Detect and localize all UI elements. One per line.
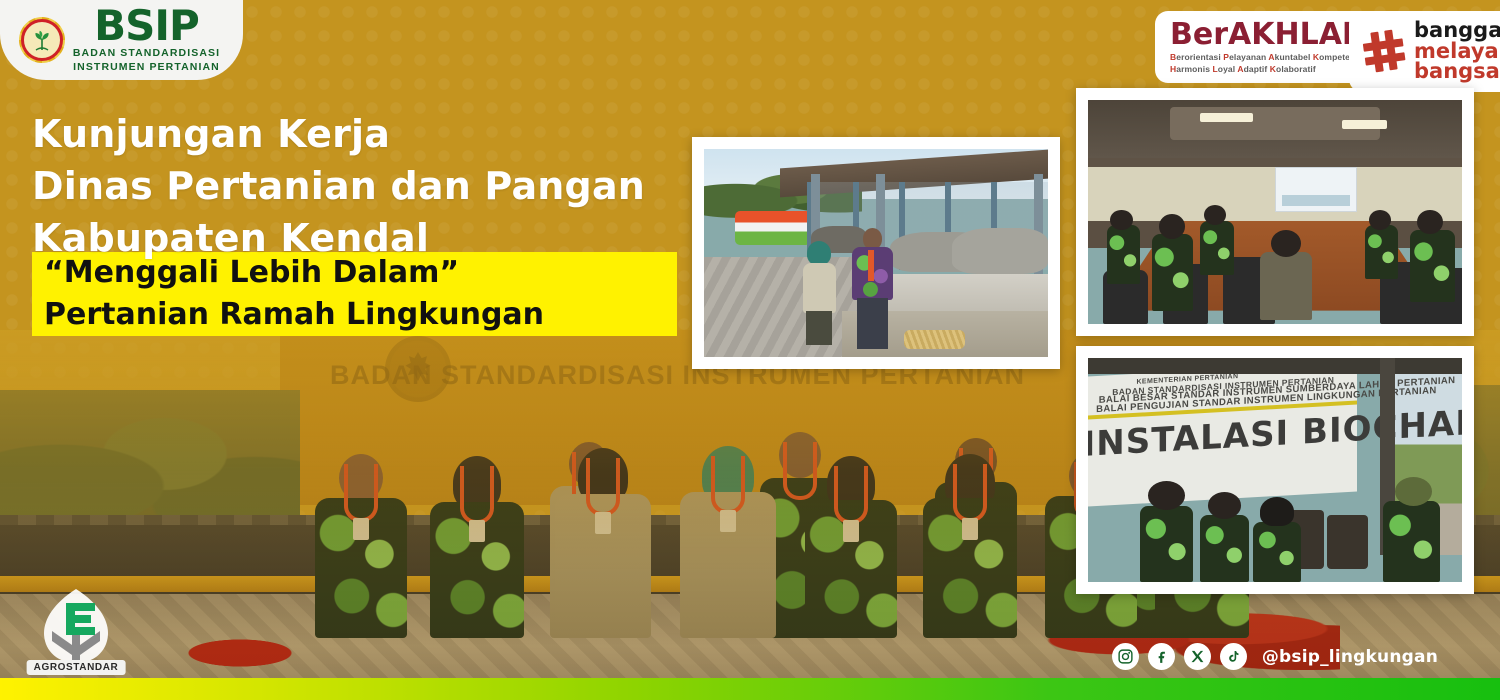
bangga-line-3: bangsa <box>1414 61 1500 82</box>
berakhlak-ber-text: Ber <box>1170 17 1228 52</box>
photo-cattle-barn <box>704 149 1048 357</box>
highlight-line-2: Pertanian Ramah Lingkungan <box>44 300 544 330</box>
bsip-subtitle-line-2: INSTRUMEN PERTANIAN <box>73 61 220 73</box>
x-twitter-icon[interactable] <box>1184 643 1211 670</box>
facebook-icon[interactable] <box>1148 643 1175 670</box>
person-officer-male <box>852 228 893 349</box>
photo-frame-meeting-room <box>1076 88 1474 336</box>
bangga-line-2: melayani <box>1414 41 1500 62</box>
social-media-row: @bsip_lingkungan <box>1112 643 1438 670</box>
berakhlak-tagline-line-1: Berorientasi Pelayanan Akuntabel Kompete… <box>1170 52 1365 62</box>
berakhlak-logo: BerAKHLAK Berorientasi Pelayanan Akuntab… <box>1158 14 1379 80</box>
tiktok-icon[interactable] <box>1220 643 1247 670</box>
poster-title-block: Kunjungan Kerja Dinas Pertanian dan Pang… <box>32 108 645 264</box>
title-line-2: Dinas Pertanian dan Pangan <box>32 160 645 212</box>
projector-screen <box>1275 167 1357 212</box>
title-line-1: Kunjungan Kerja <box>32 108 645 160</box>
berakhlak-wordmark: BerAKHLAK <box>1170 20 1365 50</box>
photo-frame-instalasi-biochar: KEMENTERIAN PERTANIAN BADAN STANDARDISAS… <box>1076 346 1474 594</box>
shuttle-bus <box>735 211 811 244</box>
agrostandar-label: AGROSTANDAR <box>27 660 126 675</box>
poster-canvas: BADAN STANDARDISASI INSTRUMEN PERTANIAN <box>0 0 1500 700</box>
photo-instalasi-biochar: KEMENTERIAN PERTANIAN BADAN STANDARDISAS… <box>1088 358 1462 582</box>
biochar-banner: KEMENTERIAN PERTANIAN BADAN STANDARDISAS… <box>1088 362 1357 507</box>
bangga-line-1: bangga <box>1414 20 1500 41</box>
agrostandar-logo: AGROSTANDAR <box>26 585 126 677</box>
berakhlak-tagline-line-2: Harmonis Loyal Adaptif Kolaboratif <box>1170 64 1365 74</box>
bsip-wordmark: BSIP <box>73 7 220 45</box>
hashtag-icon <box>1362 29 1406 73</box>
photo-meeting-room <box>1088 100 1462 324</box>
highlight-line-1: “Menggali Lebih Dalam” <box>44 258 459 288</box>
bangga-melayani-bangsa-logo: bangga melayani bangsa <box>1352 14 1500 89</box>
bsip-subtitle-line-1: BADAN STANDARDISASI <box>73 47 220 59</box>
photo-frame-cattle-barn <box>692 137 1060 369</box>
social-handle: @bsip_lingkungan <box>1262 647 1438 667</box>
berakhlak-akhlak-text: AKHLAK <box>1228 17 1365 52</box>
bottom-gradient-strip <box>0 678 1500 700</box>
person-visitor-female <box>800 241 838 345</box>
kementan-emblem-icon <box>19 17 65 63</box>
instagram-icon[interactable] <box>1112 643 1139 670</box>
bsip-logo-panel: BSIP BADAN STANDARDISASI INSTRUMEN PERTA… <box>0 0 243 80</box>
